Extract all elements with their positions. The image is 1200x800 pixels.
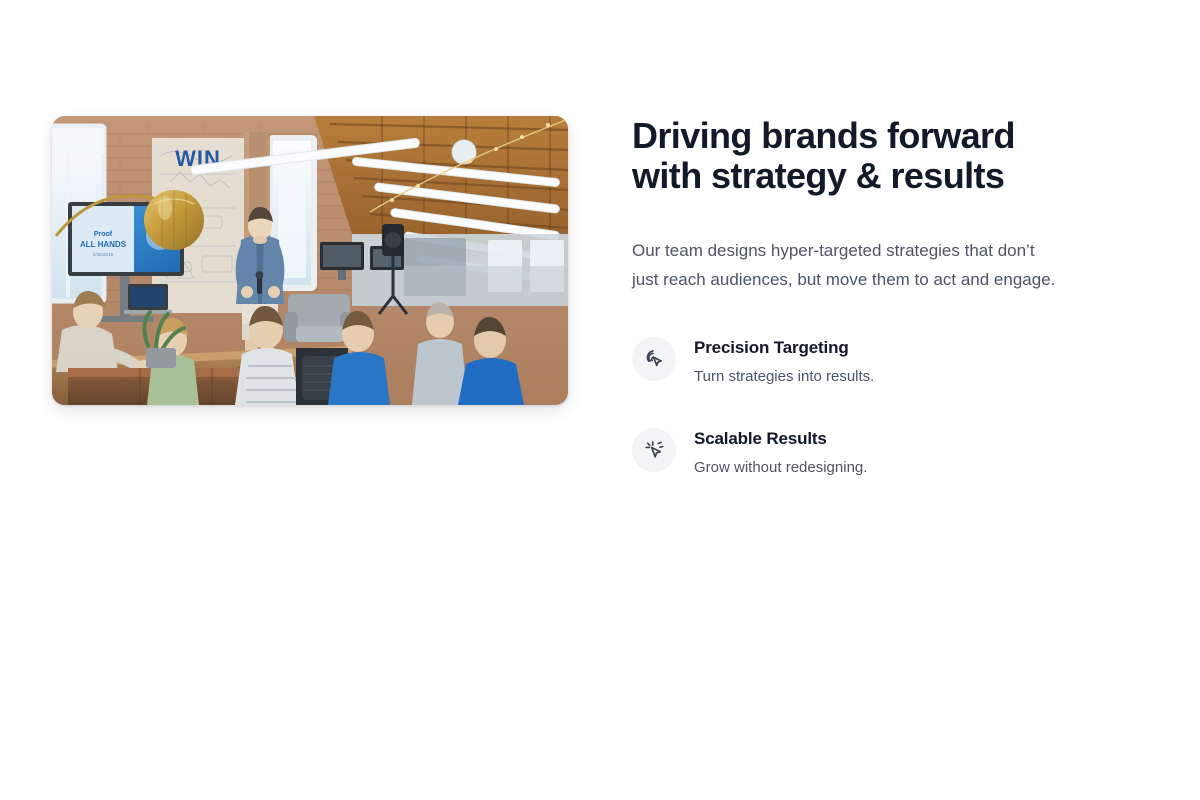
feature-description: Turn strategies into results.: [694, 367, 874, 387]
cursor-click-icon: [632, 337, 676, 381]
feature-title: Scalable Results: [694, 428, 867, 450]
office-photo-illustration: WIN: [52, 116, 568, 405]
feature-text: Precision Targeting Turn strategies into…: [694, 336, 874, 387]
feature-description: Grow without redesigning.: [694, 458, 867, 478]
feature-title: Precision Targeting: [694, 337, 874, 359]
media-column: WIN: [52, 116, 568, 405]
page-title: Driving brands forward with strategy & r…: [632, 116, 1152, 196]
section-subheading: Our team designs hyper-targeted strategi…: [632, 236, 1148, 294]
feature-item-scalable-results: Scalable Results Grow without redesignin…: [632, 427, 1152, 478]
feature-text: Scalable Results Grow without redesignin…: [694, 427, 867, 478]
feature-item-precision-targeting: Precision Targeting Turn strategies into…: [632, 336, 1152, 387]
cursor-motion-icon: [632, 428, 676, 472]
text-column: Driving brands forward with strategy & r…: [632, 116, 1152, 478]
feature-list: Precision Targeting Turn strategies into…: [632, 336, 1152, 478]
feature-section: WIN: [0, 0, 1200, 800]
office-all-hands-photo: WIN: [52, 116, 568, 405]
